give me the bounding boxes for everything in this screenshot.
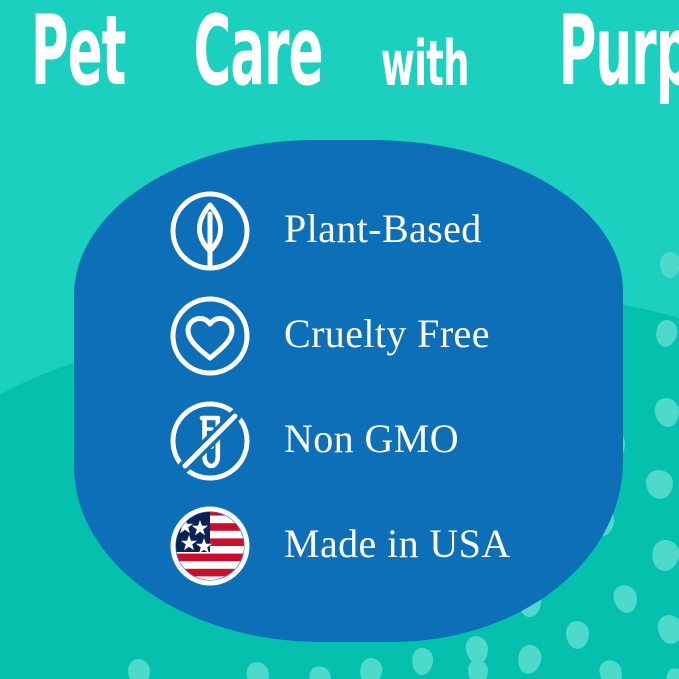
promo-graphic: PetCarewithPurpose® Plant-Based	[0, 0, 679, 679]
feature-list: Plant-Based Cruelty Free	[166, 178, 596, 598]
heart-in-circle-icon	[166, 292, 254, 380]
headline-word-care: Care	[194, 3, 323, 99]
page-title: PetCarewithPurpose®	[0, 16, 679, 99]
headline-word-purpose: Purpose	[559, 3, 679, 99]
headline-word-pet: Pet	[31, 3, 125, 99]
feature-row-non-gmo: Non GMO	[166, 388, 596, 493]
feature-label-made-in-usa: Made in USA	[284, 524, 511, 564]
feature-row-made-in-usa: Made in USA	[166, 493, 596, 598]
no-test-tube-icon	[166, 397, 254, 485]
feature-label-non-gmo: Non GMO	[284, 419, 459, 459]
feature-label-cruelty-free: Cruelty Free	[284, 314, 490, 354]
headline-word-with: with	[381, 33, 469, 96]
feature-row-cruelty-free: Cruelty Free	[166, 283, 596, 388]
usa-flag-circle-icon	[166, 502, 254, 590]
feature-row-plant-based: Plant-Based	[166, 178, 596, 283]
feature-label-plant-based: Plant-Based	[284, 209, 482, 249]
leaf-in-circle-icon	[166, 187, 254, 275]
